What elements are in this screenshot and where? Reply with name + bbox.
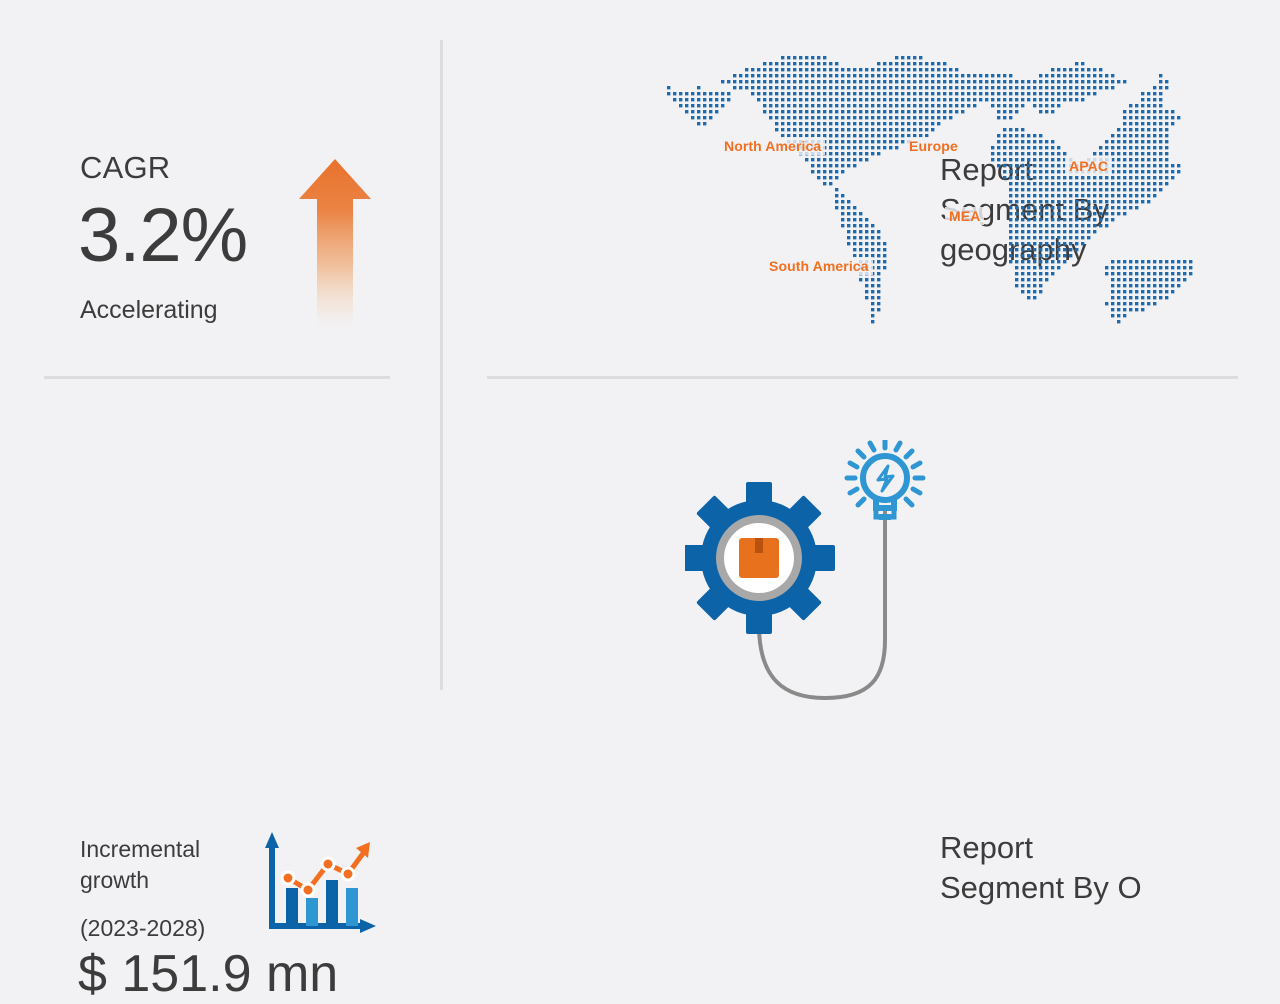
incremental-growth-panel: Incremental growth (2023-2028) $ 151.9 m… [0,378,440,720]
cagr-value: 3.2% [78,193,247,279]
cagr-label: CAGR [80,150,170,186]
bar-line-growth-chart-icon [258,830,378,940]
incremental-growth-label: Incremental growth [80,834,260,896]
map-label-south-america: South America [765,257,873,275]
map-label-north-america: North America [720,137,825,155]
up-arrow-icon [295,155,375,335]
dotted-world-map: North America South America Europe MEA A… [655,50,1225,345]
map-label-apac: APAC [1065,157,1112,175]
segment-heading: Report Segment By O [940,828,1150,908]
gear-box-lightbulb-icon [685,440,935,720]
map-label-mea: MEA [945,207,984,225]
map-label-europe: Europe [905,137,962,155]
incremental-growth-years: (2023-2028) [80,915,205,942]
cagr-sub-label: Accelerating [80,296,218,325]
cagr-panel: CAGR 3.2% Accelerating [0,0,440,376]
incremental-growth-value: $ 151.9 mn [78,944,338,1004]
